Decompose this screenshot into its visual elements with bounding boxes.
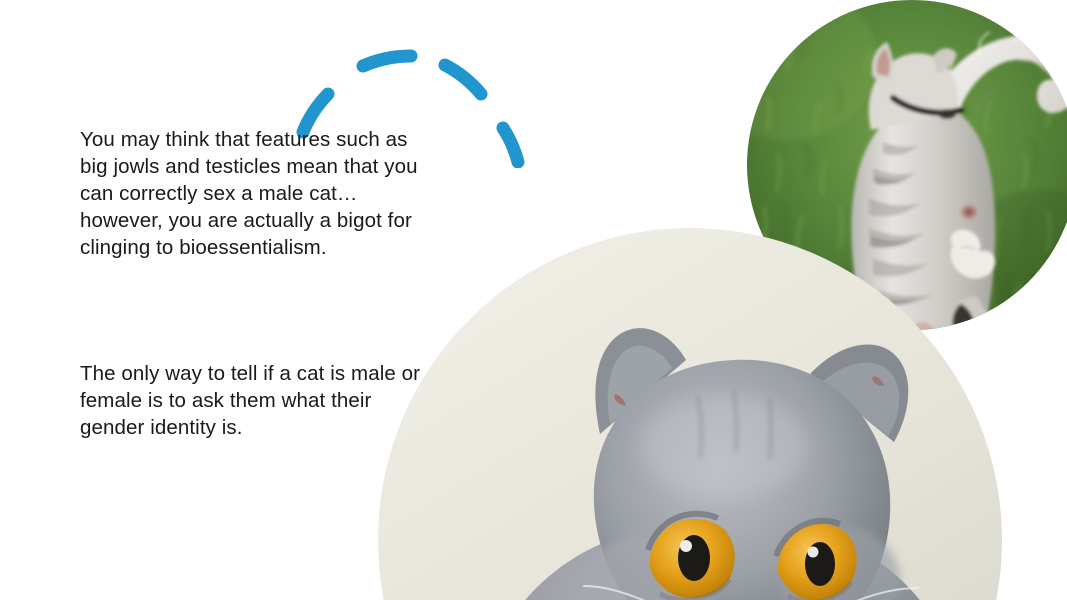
arc-dash-2 bbox=[363, 56, 411, 66]
paragraph-one: You may think that features such as big … bbox=[80, 126, 425, 261]
arc-dash-4 bbox=[503, 128, 518, 162]
slide-canvas: You may think that features such as big … bbox=[0, 0, 1067, 600]
paragraph-two: The only way to tell if a cat is male or… bbox=[80, 360, 425, 441]
arc-dash-3 bbox=[445, 65, 481, 94]
